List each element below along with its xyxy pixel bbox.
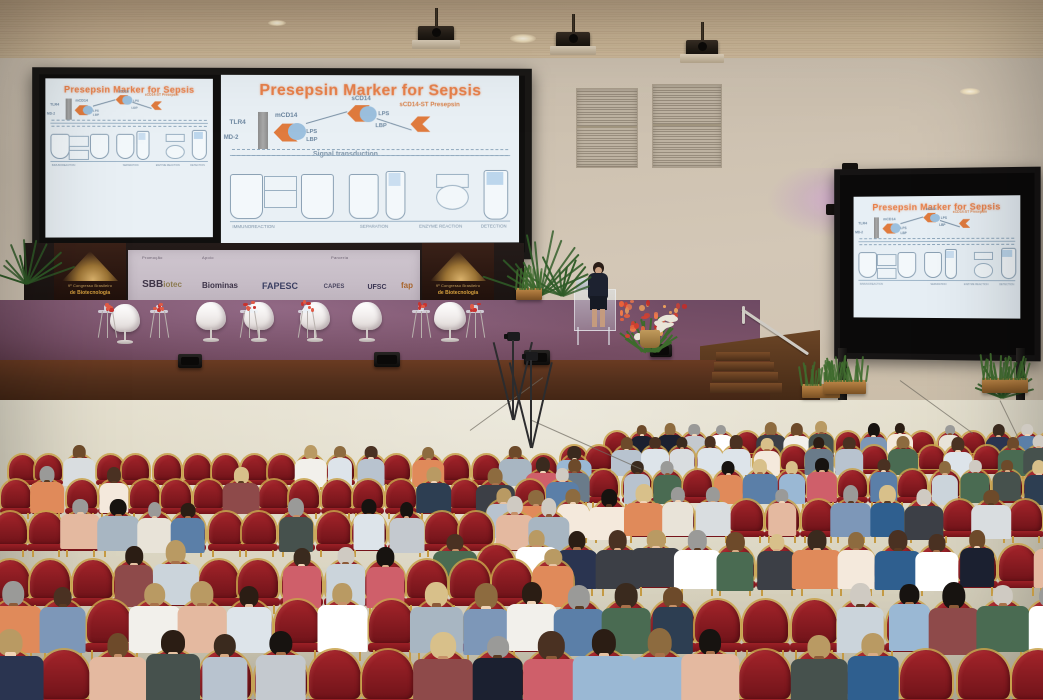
label-lps-2: LPS: [378, 111, 389, 117]
planter-stage-grass: [516, 262, 542, 290]
audience-person: [682, 629, 739, 700]
chair: [38, 650, 90, 700]
person-shoulders: [89, 657, 146, 700]
stair-step-3: [712, 372, 778, 382]
lectern-leg-right: [608, 327, 610, 345]
person-shoulders: [572, 656, 635, 700]
handrail-post-upper: [742, 306, 745, 324]
stair-step-1: [716, 352, 770, 361]
reagent-box-2: [69, 149, 88, 160]
audience-person: [626, 484, 662, 535]
chair: [958, 650, 1010, 700]
enzyme-circle: [974, 263, 994, 278]
label-mcd14: mCD14: [883, 217, 895, 221]
label-mcd14: mCD14: [275, 112, 297, 119]
sponsor-header-0: Promoção: [142, 255, 163, 260]
label-lbp-2: LBP: [939, 223, 945, 227]
separation-fill: [388, 173, 401, 186]
process-step-3: ENZYME REACTION: [964, 283, 989, 286]
person-shoulders: [929, 608, 980, 655]
banner-right-line1: 9º Congresso Brasileiro: [422, 283, 494, 288]
reaction-tube-1: [229, 174, 262, 219]
person-shoulders: [318, 605, 367, 652]
audience-person: [388, 502, 425, 552]
person-shoulders: [30, 482, 64, 512]
chair: [0, 512, 27, 557]
label-lbp-1: LBP: [900, 231, 906, 235]
person-shoulders: [717, 552, 754, 591]
person-shoulders: [279, 517, 313, 552]
audience-person: [791, 635, 848, 700]
side-slide: Presepsin Marker for Sepsis TLR4MD-2mCD1…: [854, 195, 1021, 318]
presenter: [586, 262, 610, 328]
label-md2: MD-2: [224, 135, 239, 141]
label-tlr4: TLR4: [50, 103, 59, 107]
auditorium-photo: Presepsin Marker for Sepsis TLR4MD-2mCD1…: [0, 0, 1043, 700]
detection-fill: [1002, 250, 1012, 257]
wall-vent-left: [576, 88, 638, 168]
connector-1: [93, 99, 116, 106]
enzyme-circle: [165, 145, 184, 160]
audience-person: [523, 631, 580, 700]
banner-right-logo-icon: [430, 251, 486, 281]
label-scd14: sCD14: [351, 95, 370, 102]
enzyme-box: [165, 133, 184, 141]
stage-chair-2: [196, 302, 226, 342]
ceiling-light-0: [510, 34, 536, 43]
audience-person: [877, 530, 919, 588]
process-step-4: DETECTION: [481, 224, 507, 229]
process-baseline: [229, 221, 510, 223]
reagent-box-2: [264, 190, 297, 208]
process-step-4: DETECTION: [999, 283, 1014, 286]
separation-fill: [138, 132, 145, 139]
receptor-bar: [66, 99, 72, 119]
person-shoulders: [472, 658, 523, 700]
reaction-tube-1: [858, 252, 877, 278]
slide-right-panel: Presepsin Marker for Sepsis Signal trans…: [221, 75, 519, 243]
person-shoulders: [202, 657, 247, 700]
banner-left-line1: 9º Congresso Brasileiro: [54, 283, 126, 288]
reagent-box-1: [877, 254, 896, 266]
stage-flower-table-4: [298, 300, 316, 338]
audience-person: [225, 467, 258, 512]
reaction-tube-3: [349, 174, 379, 219]
planter-3: [982, 378, 1028, 393]
audience-person: [956, 530, 998, 586]
connector-1: [900, 217, 923, 225]
ceiling-projector-1: [418, 8, 454, 54]
person-shoulders: [61, 514, 101, 549]
receptor-bar: [874, 217, 879, 238]
label-scd14: sCD14: [118, 90, 129, 94]
person-shoulders: [681, 654, 739, 700]
person-shoulders: [768, 503, 796, 537]
person-shoulders: [0, 656, 44, 700]
audience-person: [695, 487, 731, 535]
process-step-3: ENZYME REACTION: [419, 224, 462, 229]
label-lps-1: LPS: [900, 227, 906, 231]
stair-step-4: [710, 383, 782, 393]
stage-flower-table-5: [412, 300, 430, 338]
banner-left-line2: de Biotecnologia: [54, 290, 126, 296]
sponsor-logo-capes: CAPES: [312, 278, 356, 296]
audience-person: [635, 530, 677, 586]
label-lps-2: LPS: [133, 98, 139, 102]
audience-person: [469, 636, 526, 700]
membrane-bilayer: [52, 119, 207, 126]
audience-person: [796, 530, 838, 588]
audience-person: [978, 585, 1028, 651]
sponsor-logo-fapdf: fap: [394, 276, 420, 296]
lps-lbp-ball-2: [360, 106, 377, 122]
audience-person: [714, 532, 756, 590]
person-shoulders: [757, 551, 797, 590]
audience-person: [1035, 530, 1043, 587]
audience-person: [929, 582, 979, 654]
process-baseline: [50, 161, 208, 162]
person-shoulders: [1028, 606, 1043, 653]
sponsor-header-1: Apoio: [202, 255, 214, 260]
reagent-box-2: [877, 268, 896, 279]
banner-right-line2: de Biotecnologia: [422, 290, 494, 296]
detection-fill: [486, 172, 503, 185]
palm-stage-left-2: [540, 250, 581, 296]
flower-vase: [640, 330, 660, 348]
lps-lbp-ball-1: [83, 105, 93, 114]
label-md2: MD-2: [47, 111, 55, 115]
ceiling-light-3: [268, 20, 286, 26]
chair: [739, 650, 791, 700]
label-lps-2: LPS: [941, 216, 947, 220]
audience-person: [575, 629, 632, 700]
audience-person: [631, 628, 688, 700]
process-step-1: IMMUNOREACTION: [52, 164, 75, 167]
camera-tripod-2: [518, 352, 544, 448]
audience-person: [1024, 585, 1043, 652]
audience-person: [0, 629, 39, 700]
chair: [209, 512, 243, 557]
label-lbp-2: LBP: [375, 123, 386, 129]
side-slide-title: Presepsin Marker for Sepsis: [854, 201, 1021, 212]
person-shoulders: [39, 607, 86, 654]
stage-flower-table-3: [240, 300, 258, 338]
label-tlr4: TLR4: [229, 119, 245, 126]
sponsor-logo-fapesc: FAPESC: [256, 276, 304, 296]
slide-left-panel: Presepsin Marker for Sepsis TLR4MD-2mCD1…: [45, 78, 213, 237]
person-shoulders: [413, 659, 473, 700]
label-tlr4: TLR4: [858, 221, 867, 225]
process-step-1: IMMUNOREACTION: [232, 224, 274, 229]
audience-person: [833, 485, 869, 536]
audience-person: [196, 634, 253, 700]
process-step-4: DETECTION: [190, 164, 204, 167]
presepsin-shape: [958, 218, 970, 228]
person-shoulders: [976, 606, 1029, 653]
person-shoulders: [523, 659, 579, 700]
audience-person: [145, 630, 202, 700]
presenter-skirt: [590, 296, 607, 310]
connector-1: [306, 112, 347, 125]
reagent-box-1: [69, 135, 88, 146]
reaction-tube-2: [90, 133, 109, 159]
ceiling-projector-2: [556, 14, 590, 60]
lps-lbp-ball-2: [930, 214, 940, 223]
process-step-2: SEPARATION: [930, 283, 946, 286]
sponsor-logo-ufsc: UFSC: [360, 276, 394, 298]
chair: [309, 650, 361, 700]
main-projection-screen: Presepsin Marker for Sepsis TLR4MD-2mCD1…: [32, 67, 532, 261]
reaction-tube-1: [50, 133, 69, 159]
person-head: [1039, 585, 1043, 607]
audience-person: [252, 631, 309, 700]
audience-person: [414, 632, 471, 700]
audience-person: [764, 489, 800, 535]
label-presepsin: sCD14-ST Presepsin: [399, 101, 459, 108]
person-shoulders: [791, 659, 847, 700]
audience-person: [318, 583, 368, 650]
process-step-1: IMMUNOREACTION: [860, 283, 883, 286]
person-shoulders: [223, 483, 260, 513]
planter-2-grass: [824, 354, 866, 382]
chair: [1012, 650, 1043, 700]
presepsin-shape: [150, 101, 162, 111]
sponsor-logo-sbbiotec: SBB iotec: [138, 272, 186, 298]
audience-person: [835, 532, 877, 588]
person-shoulders: [848, 656, 899, 700]
audience-person: [62, 499, 99, 549]
label-lps-1: LPS: [93, 108, 99, 112]
audience-person: [278, 498, 315, 551]
stage-monitor-1: [178, 354, 202, 368]
label-md2: MD-2: [855, 230, 863, 234]
stage-chair-6: [434, 302, 466, 342]
ceiling-projector-3: [686, 22, 718, 68]
label-presepsin: sCD14-ST Presepsin: [145, 93, 179, 97]
audience-person: [350, 499, 387, 549]
reaction-tube-2: [897, 252, 916, 278]
separation-fill: [946, 251, 953, 258]
audience-person: [38, 587, 88, 652]
ceiling-light-2: [960, 88, 980, 95]
planter-3-grass: [982, 352, 1028, 380]
person-shoulders: [146, 654, 200, 700]
audience-person: [99, 499, 136, 551]
label-lps-1: LPS: [306, 129, 317, 135]
process-step-2: SEPARATION: [360, 224, 388, 229]
reaction-tube-3: [924, 252, 942, 278]
lps-lbp-ball-1: [288, 123, 306, 140]
person-shoulders: [1034, 549, 1043, 588]
audience-person: [660, 487, 696, 535]
enzyme-box: [974, 252, 994, 260]
stage-flower-table-1: [98, 300, 116, 338]
chair: [242, 512, 276, 557]
person-shoulders: [256, 655, 307, 700]
sponsor-header-2: Parceria: [331, 255, 348, 260]
stage-flower-table-6: [466, 300, 484, 338]
process-step-3: ENZYME REACTION: [156, 164, 180, 167]
audience-person: [677, 530, 719, 588]
chair: [900, 650, 952, 700]
stair-step-2: [714, 362, 774, 371]
ceiling-wood-panels: [0, 0, 1043, 62]
detection-fill: [193, 131, 202, 138]
person-shoulders: [633, 657, 688, 700]
reaction-tube-2: [300, 174, 333, 219]
stage-flower-table-2: [150, 300, 168, 338]
chair: [362, 650, 414, 700]
label-scd14: sCD14: [926, 207, 937, 211]
membrane-bilayer: [232, 149, 508, 156]
stage-chair-5: [352, 302, 382, 342]
side-projection-screen: Presepsin Marker for Sepsis TLR4MD-2mCD1…: [834, 167, 1040, 362]
audience-person: [31, 466, 64, 512]
audience-person: [844, 633, 901, 700]
lectern-leg-left: [577, 327, 579, 345]
lps-lbp-ball-2: [123, 96, 132, 105]
audience-person: [869, 485, 905, 536]
label-lbp-2: LBP: [131, 105, 137, 109]
presepsin-shape: [409, 115, 430, 133]
receptor-bar: [258, 112, 268, 149]
person-shoulders: [353, 514, 384, 549]
planter-2: [824, 380, 866, 394]
process-baseline: [858, 280, 1015, 281]
label-lbp-1: LBP: [306, 137, 317, 143]
reaction-tube-3: [116, 133, 134, 159]
sponsor-logo-biominas: Biominas: [194, 276, 246, 296]
process-step-2: SEPARATION: [123, 164, 139, 167]
stage-monitor-2: [374, 352, 400, 367]
audience-person: [89, 633, 146, 700]
label-lbp-1: LBP: [93, 113, 99, 117]
slide-left-title: Presepsin Marker for Sepsis: [45, 84, 213, 94]
enzyme-circle: [436, 185, 469, 210]
lps-lbp-ball-1: [890, 223, 900, 233]
label-mcd14: mCD14: [75, 99, 87, 103]
membrane-bilayer: [860, 237, 1014, 244]
label-presepsin: sCD14-ST Presepsin: [953, 210, 987, 214]
wall-vent-right: [652, 84, 722, 168]
chair: [29, 512, 63, 557]
presenter-legs: [592, 309, 605, 327]
palm-left-1: [2, 230, 51, 284]
